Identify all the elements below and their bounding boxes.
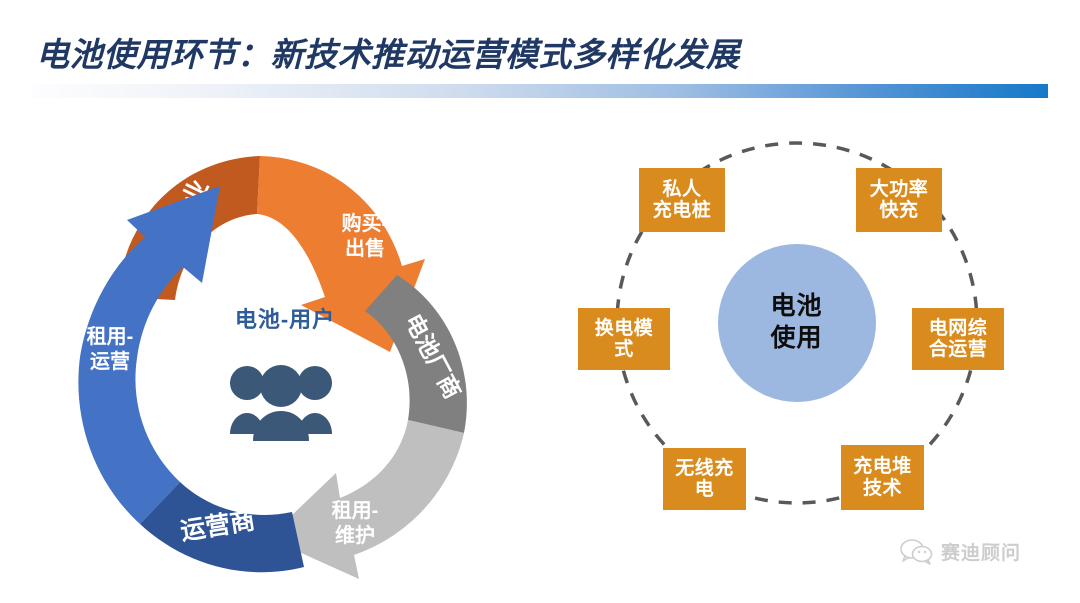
- hub-tag-line1: 大功率: [870, 179, 929, 200]
- hub-tag-high-power-fast-charge[interactable]: 大功率 快充: [856, 168, 942, 232]
- battery-user-cycle-diagram: 汽车企业 购买- 出售 电池厂商 租用- 维护 租用- 运营 运营商: [20, 120, 540, 590]
- wechat-icon: [900, 539, 934, 565]
- title-divider-bar: [32, 84, 1048, 98]
- hub-tag-line2: 充电桩: [653, 200, 712, 221]
- hub-tag-charging-stack-technology[interactable]: 充电堆 技术: [841, 445, 924, 510]
- hub-tag-line2: 合运营: [929, 339, 988, 360]
- hub-tag-line2: 电: [675, 479, 734, 500]
- hub-tag-wireless-charging[interactable]: 无线充 电: [663, 448, 746, 510]
- hub-center-label-line2: 使用: [770, 323, 822, 354]
- hub-tag-line1: 电网综: [929, 318, 988, 339]
- hub-tag-line2: 式: [595, 339, 654, 360]
- cycle-center-caption: 电池-用户: [195, 302, 375, 334]
- hub-tag-private-charging-pile[interactable]: 私人 充电桩: [639, 168, 725, 232]
- hub-tag-grid-integrated-operation[interactable]: 电网综 合运营: [912, 308, 1004, 370]
- hub-tag-battery-swap-mode[interactable]: 换电模 式: [578, 308, 670, 370]
- watermark: 赛迪顾问: [900, 538, 1021, 565]
- cycle-flow-label-rent-maintain: 租用-: [332, 499, 379, 522]
- hub-tag-line2: 技术: [853, 478, 912, 499]
- svg-text:运营: 运营: [90, 349, 130, 373]
- page-title: 电池使用环节：新技术推动运营模式多样化发展: [36, 28, 740, 76]
- hub-center-label-line1: 电池: [770, 291, 822, 322]
- cycle-flow-label-rent-operate: 租用-: [87, 325, 134, 348]
- hub-tag-line1: 无线充: [675, 458, 734, 479]
- hub-tag-line1: 私人: [653, 179, 712, 200]
- hub-tag-line2: 快充: [870, 200, 929, 221]
- hub-center-label: 电池 使用: [718, 244, 875, 401]
- svg-text:出售: 出售: [345, 236, 385, 260]
- slide-header: 电池使用环节：新技术推动运营模式多样化发展: [0, 0, 1080, 110]
- people-group-icon: [230, 365, 332, 441]
- cycle-flow-label-purchase-sell: 购买-: [342, 211, 389, 235]
- hub-tag-line1: 换电模: [595, 318, 654, 339]
- watermark-text: 赛迪顾问: [941, 538, 1021, 565]
- svg-text:维护: 维护: [335, 523, 375, 547]
- hub-tag-line1: 充电堆: [853, 456, 912, 477]
- battery-usage-hub-diagram: 电池 使用 私人 充电桩 大功率 快充 电网综 合运营 充电堆 技术 无线充 电: [560, 140, 1040, 560]
